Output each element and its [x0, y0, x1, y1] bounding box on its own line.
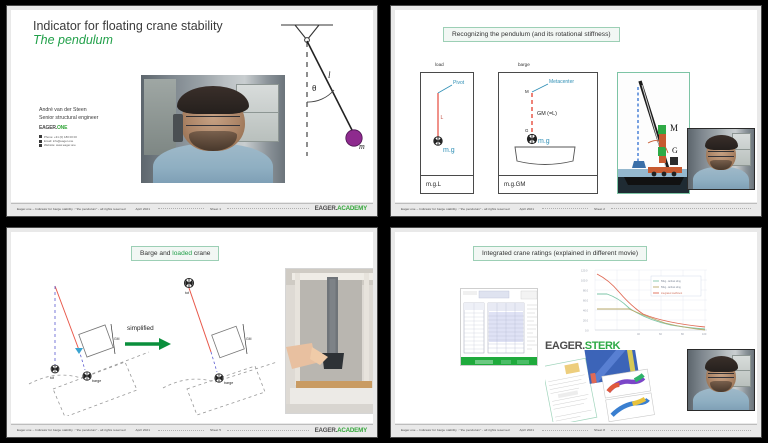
- footer-dots-right: [611, 430, 751, 431]
- page-title: Indicator for floating crane stability: [33, 19, 223, 34]
- crane-photo: M G: [617, 72, 690, 194]
- svg-text:100: 100: [702, 332, 707, 336]
- eager-academy-logo-part1: EAGER.: [315, 427, 338, 434]
- load-pivot-label: Pivot: [453, 80, 465, 86]
- slide-3-banner-part3: crane: [192, 250, 210, 257]
- rating-spreadsheet: [460, 288, 538, 366]
- footer-copyright: Eager.one – Indicator for barge stabilit…: [17, 428, 126, 432]
- footer-date: April 2021: [136, 428, 150, 432]
- overlay-video-scene: [688, 350, 754, 410]
- video-glasses: [186, 116, 241, 126]
- slide-panel-2[interactable]: Recognizing the pendulum (and its rotati…: [384, 0, 768, 222]
- envelope-icon: [39, 140, 42, 143]
- svg-text:80.0: 80.0: [583, 288, 589, 292]
- footer-copyright: Eager.one – Indicator for barge stabilit…: [17, 207, 126, 211]
- load-box-caption: m.g.L: [421, 175, 473, 193]
- overlay-video-glasses: [708, 151, 733, 156]
- eager-academy-logo: EAGER.ACADEMY: [315, 205, 367, 212]
- pendulum-svg: l θ m: [271, 16, 367, 166]
- overlay-video-glasses: [708, 373, 733, 378]
- left-barge-label: barge: [92, 379, 101, 383]
- eager-one-logo: EAGER.ONE: [39, 125, 98, 132]
- presenter-contact-block: André van der Steen Senior structural en…: [39, 107, 98, 147]
- footer-dots-left: [158, 208, 204, 209]
- footer-sheet-number: Sheet 8: [594, 428, 605, 432]
- slide-3-banner-part1: Barge and: [140, 250, 172, 257]
- slide-panel-3[interactable]: Barge and loaded crane tot: [0, 222, 384, 443]
- eager-one-logo-part1: EAGER.: [39, 125, 57, 131]
- slide-2-banner: Recognizing the pendulum (and its rotati…: [443, 27, 620, 42]
- pendulum-angle-label: θ: [312, 84, 317, 93]
- barge-box-header: barge: [518, 62, 530, 67]
- load-length-label: L: [441, 115, 444, 121]
- barge-crane-diagram: tot barge GM simplified: [19, 266, 279, 416]
- presenter-video[interactable]: [141, 75, 285, 183]
- svg-text:60.0: 60.0: [583, 298, 589, 302]
- slide-3-content: Barge and loaded crane tot: [11, 232, 373, 424]
- barge-force-label: m.g: [538, 138, 550, 145]
- presenter-video-overlay[interactable]: [687, 128, 755, 190]
- right-barge-label: barge: [224, 381, 233, 385]
- svg-text:0.0: 0.0: [585, 328, 589, 332]
- slide-1-footer: Eager.one – Indicator for barge stabilit…: [11, 203, 373, 214]
- slide-3-banner-part2: loaded: [172, 250, 192, 257]
- load-diagram-svg: Pivot L m.g: [421, 73, 475, 177]
- footer-sheet-number: Sheet 1: [210, 207, 221, 211]
- slide-grid: Indicator for floating crane stability T…: [0, 0, 768, 443]
- video-door: [144, 79, 176, 155]
- slide-panel-4[interactable]: Integrated crane ratings (explained in d…: [384, 222, 768, 443]
- footer-date: April 2021: [136, 207, 150, 211]
- gm-length-label: GM (=L): [537, 111, 557, 117]
- home-icon: [39, 144, 42, 147]
- phone-icon: [39, 135, 42, 138]
- physical-model-photo: [285, 268, 373, 414]
- svg-text:M: M: [670, 123, 678, 133]
- eager-one-logo-part2: ONE: [57, 125, 67, 131]
- physical-model-svg: [286, 269, 373, 414]
- footer-dots-left: [158, 430, 204, 431]
- slide-3-footer: Eager.one – Indicator for barge stabilit…: [11, 424, 373, 435]
- footer-copyright: Eager.one – Indicator for barge stabilit…: [401, 428, 510, 432]
- footer-date: April 2021: [520, 207, 534, 211]
- footer-dots-left: [542, 430, 588, 431]
- presenter-role: Senior structural engineer: [39, 115, 98, 123]
- slide-2: Recognizing the pendulum (and its rotati…: [390, 5, 762, 217]
- metacenter-label: Metacenter: [549, 79, 574, 85]
- overlay-video-shoulders: [693, 167, 748, 189]
- slide-4-content: Integrated crane ratings (explained in d…: [395, 232, 757, 424]
- footer-dots-left: [542, 208, 588, 209]
- eager-academy-logo-part2: ACADEMY: [337, 205, 367, 212]
- slide-3-banner: Barge and loaded crane: [131, 246, 219, 261]
- point-g-label: G: [525, 128, 529, 133]
- footer-sheet-number: Sheet 5: [210, 428, 221, 432]
- eager-academy-logo: EAGER.ACADEMY: [315, 427, 367, 434]
- footer-dots-right: [611, 208, 751, 209]
- chart-legend-item-0: 50kg - without sling: [661, 280, 681, 283]
- slide-1-content: Indicator for floating crane stability T…: [11, 10, 373, 202]
- overlay-video-scene: [688, 129, 754, 189]
- footer-dots-right: [227, 430, 309, 431]
- footer-sheet-number: Sheet 2: [594, 207, 605, 211]
- eager-academy-logo-part1: EAGER.: [315, 205, 338, 212]
- slide-panel-1[interactable]: Indicator for floating crane stability T…: [0, 0, 384, 222]
- left-tot-label: tot: [50, 376, 54, 380]
- slide-4: Integrated crane ratings (explained in d…: [390, 227, 762, 439]
- svg-text:G: G: [672, 146, 678, 155]
- fem-report-collage: [545, 350, 655, 422]
- svg-text:20.0: 20.0: [583, 318, 589, 322]
- right-tot-label: tot: [185, 291, 189, 295]
- presenter-name: André van der Steen: [39, 107, 98, 115]
- slide-2-content: Recognizing the pendulum (and its rotati…: [395, 10, 757, 202]
- crane-rating-chart-svg: 120.0100.0 80.060.0 40.020.0 0.0 4060 80…: [573, 266, 713, 338]
- barge-box-caption: m.g.GM: [499, 175, 597, 193]
- presenter-video-scene: [141, 75, 285, 183]
- pendulum-length-label: l: [328, 70, 331, 80]
- chart-legend-item-2: integrated coefficient: [661, 292, 683, 295]
- slide-4-banner: Integrated crane ratings (explained in d…: [473, 246, 647, 261]
- crane-photo-svg: M G: [618, 73, 690, 194]
- footer-copyright: Eager.one – Indicator for barge stabilit…: [401, 207, 510, 211]
- chart-legend-item-1: 50kg - without sling: [661, 286, 681, 289]
- overlay-video-hair: [705, 356, 738, 372]
- eager-academy-logo-part2: ACADEMY: [337, 427, 367, 434]
- crane-rating-chart: 120.0100.0 80.060.0 40.020.0 0.0 4060 80…: [573, 266, 713, 338]
- svg-text:GM: GM: [246, 337, 252, 341]
- slide-1: Indicator for floating crane stability T…: [6, 5, 378, 217]
- barge-diagram-svg: Metacenter M GM (=L) G m.g: [499, 73, 599, 177]
- load-force-label: m.g: [443, 147, 455, 154]
- barge-box: Metacenter M GM (=L) G m.g m.g.GM: [498, 72, 598, 194]
- pendulum-diagram: l θ m: [271, 16, 367, 166]
- svg-text:40.0: 40.0: [583, 308, 589, 312]
- svg-text:GM: GM: [114, 337, 120, 341]
- contact-web-text: Website: www.eager.one: [44, 143, 76, 147]
- slide-2-footer: Eager.one – Indicator for barge stabilit…: [395, 203, 757, 214]
- presenter-video-overlay[interactable]: [687, 349, 755, 411]
- load-box-header: load: [435, 62, 444, 67]
- load-box: Pivot L m.g m.g.L: [420, 72, 474, 194]
- svg-text:120.0: 120.0: [581, 268, 588, 272]
- simplified-arrow-label: simplified: [127, 325, 154, 332]
- rating-spreadsheet-svg: [461, 289, 538, 366]
- pendulum-mass-label: m: [359, 142, 365, 151]
- slide-3: Barge and loaded crane tot: [6, 227, 378, 439]
- contact-web-line: Website: www.eager.one: [39, 143, 98, 147]
- page-subtitle: The pendulum: [33, 33, 113, 47]
- video-headset: [173, 114, 183, 142]
- footer-dots-right: [227, 208, 309, 209]
- slide-4-footer: Eager.one – Indicator for barge stabilit…: [395, 424, 757, 435]
- point-m-label: M: [525, 89, 529, 94]
- overlay-video-hair: [705, 135, 738, 151]
- footer-date: April 2021: [520, 428, 534, 432]
- svg-text:100.0: 100.0: [581, 278, 588, 282]
